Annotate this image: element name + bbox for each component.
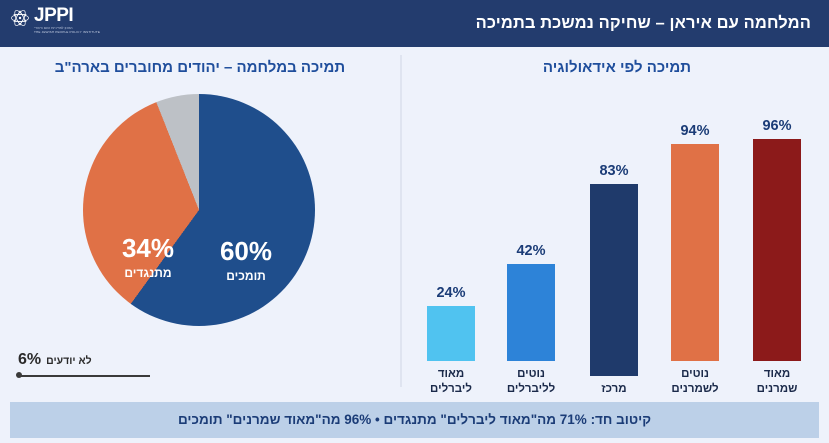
charts-container: תמיכה לפי אידאולוגיה 24%מאודליברלים42%נו… xyxy=(0,47,829,396)
infographic-root: JPPI המכון למדיניות העם היהודי THE JEWIS… xyxy=(0,0,829,443)
pie-slice-label-oppose: 34% מתנגדים xyxy=(98,235,198,280)
pie-callout-unknown: 6% לא יודעים xyxy=(18,351,158,369)
pie-disc xyxy=(83,94,315,326)
pie-slice-caption-oppose: מתנגדים xyxy=(98,266,198,280)
pie-slice-value-oppose: 34% xyxy=(98,235,198,261)
bar-group-4[interactable]: 94%נוטיםלשמרנים xyxy=(663,91,727,396)
footer-summary-text: קיטוב חד: 71% מה"מאוד ליברלים" מתנגדים •… xyxy=(10,402,819,438)
pie-chart-title: תמיכה במלחמה – יהודים מחוברים בארה"ב xyxy=(0,59,400,76)
pie-callout-value: 6% xyxy=(18,351,41,369)
bar-category-label-5: מאודשמרנים xyxy=(757,367,798,396)
bar-category-label-3: מרכז xyxy=(601,382,626,396)
bar-group-5[interactable]: 96%מאודשמרנים xyxy=(745,91,809,396)
bar-category-label-1: מאודליברלים xyxy=(430,367,472,396)
footer-bar: קיטוב חד: 71% מה"מאוד ליברלים" מתנגדים •… xyxy=(0,396,829,443)
bar-rect-3[interactable] xyxy=(590,184,638,376)
bar-category-label-2: נוטיםלליברלים xyxy=(507,367,555,396)
page-title: המלחמה עם איראן – שחיקה נמשכת בתמיכה xyxy=(476,0,811,47)
bar-value-label-4: 94% xyxy=(680,123,709,139)
pie-chart-panel: תמיכה במלחמה – יהודים מחוברים בארה"ב 60%… xyxy=(0,47,400,396)
pie-callout-leader-line xyxy=(19,375,150,377)
bar-chart-plot: 24%מאודליברלים42%נוטיםלליברלים83%מרכז94%… xyxy=(405,91,829,396)
bar-value-label-1: 24% xyxy=(436,285,465,301)
header-bar: JPPI המכון למדיניות העם היהודי THE JEWIS… xyxy=(0,0,829,47)
pie-slice-caption-support: תומכים xyxy=(196,269,296,283)
bar-rect-2[interactable] xyxy=(507,264,555,361)
pie-slice-value-support: 60% xyxy=(196,238,296,264)
logo-subtitle-english: THE JEWISH PEOPLE POLICY INSTITUTE xyxy=(34,31,100,34)
bar-group-3[interactable]: 83%מרכז xyxy=(582,91,646,396)
bar-value-label-5: 96% xyxy=(762,118,791,134)
bar-group-2[interactable]: 42%נוטיםלליברלים xyxy=(499,91,563,396)
jppi-logo: JPPI המכון למדיניות העם היהודי THE JEWIS… xyxy=(10,6,100,34)
bar-value-label-3: 83% xyxy=(599,163,628,179)
pie-callout-leader-dot xyxy=(16,372,22,378)
bar-rect-5[interactable] xyxy=(753,139,801,361)
bar-rect-1[interactable] xyxy=(427,306,475,362)
bar-rect-4[interactable] xyxy=(671,144,719,361)
bar-value-label-2: 42% xyxy=(516,243,545,259)
panel-divider xyxy=(400,55,402,387)
pie-callout-caption: לא יודעים xyxy=(46,355,92,367)
star-of-david-atom-icon xyxy=(10,8,30,28)
bar-chart-title: תמיכה לפי אידאולוגיה xyxy=(405,59,829,76)
bar-group-1[interactable]: 24%מאודליברלים xyxy=(419,91,483,396)
bar-category-label-4: נוטיםלשמרנים xyxy=(671,367,718,396)
logo-wordmark: JPPI xyxy=(34,6,100,25)
bar-chart-panel: תמיכה לפי אידאולוגיה 24%מאודליברלים42%נו… xyxy=(405,47,829,396)
pie-chart-plot: 60% תומכים 34% מתנגדים 6% לא יודעים xyxy=(0,83,400,396)
pie-slice-label-support: 60% תומכים xyxy=(196,238,296,283)
